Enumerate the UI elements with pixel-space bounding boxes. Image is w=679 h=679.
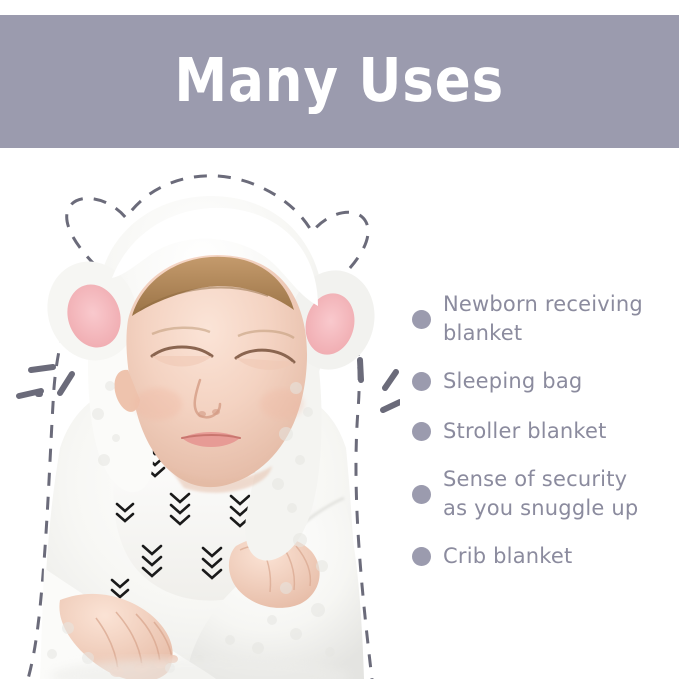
- page-root: Many Uses: [0, 0, 679, 679]
- baby-photo-illustration: [0, 148, 400, 679]
- list-item: Stroller blanket: [400, 416, 679, 446]
- content-area: Newborn receiving blanket Sleeping bag S…: [0, 148, 679, 679]
- bullet-icon: [412, 547, 431, 566]
- list-item-label: Sense of security as you snuggle up: [443, 465, 638, 523]
- uses-list: Newborn receiving blanket Sleeping bag S…: [400, 148, 679, 679]
- nostril-right: [212, 409, 220, 415]
- bullet-icon: [412, 485, 431, 504]
- bullet-icon: [412, 422, 431, 441]
- list-item-label: Stroller blanket: [443, 417, 607, 446]
- list-item: Crib blanket: [400, 541, 679, 571]
- list-item: Sense of security as you snuggle up: [400, 464, 679, 524]
- bullet-icon: [412, 310, 431, 329]
- bullet-icon: [412, 372, 431, 391]
- list-item-label: Crib blanket: [443, 542, 572, 571]
- list-item-label: Sleeping bag: [443, 367, 582, 396]
- list-item: Sleeping bag: [400, 366, 679, 396]
- header-banner: Many Uses: [0, 15, 679, 148]
- product-photo: [0, 148, 400, 679]
- cheek-left: [134, 388, 182, 420]
- nostril-left: [198, 411, 206, 417]
- list-item-label: Newborn receiving blanket: [443, 290, 643, 348]
- list-item: Newborn receiving blanket: [400, 289, 679, 349]
- page-title: Many Uses: [175, 51, 505, 111]
